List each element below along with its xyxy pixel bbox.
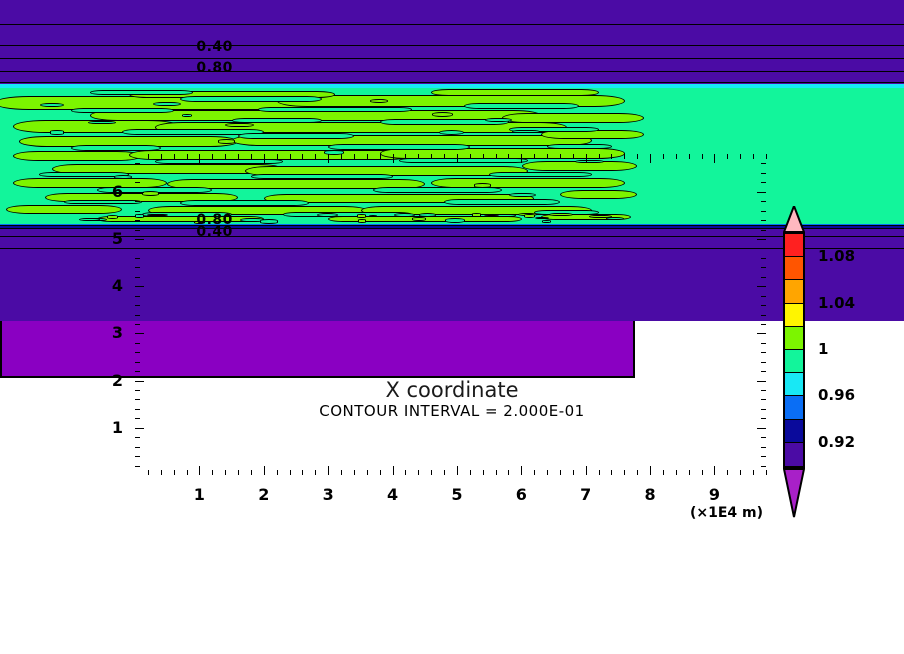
y-axis-tick <box>135 286 144 287</box>
x-axis-tick <box>508 470 509 475</box>
contour-line <box>0 225 635 226</box>
x-axis-tick <box>676 154 677 159</box>
x-axis-tick <box>418 154 419 159</box>
x-axis-tick <box>225 470 226 475</box>
y-axis-tick <box>757 286 766 287</box>
y-axis-tick <box>757 428 766 429</box>
x-axis-tick <box>483 470 484 475</box>
contour-region <box>182 114 192 117</box>
colorbar-segment <box>785 420 803 443</box>
x-axis-tick <box>714 154 715 163</box>
x-axis-tick <box>174 154 175 159</box>
y-axis-tick <box>135 305 140 306</box>
contour-region <box>357 214 367 218</box>
x-axis-tick <box>702 470 703 475</box>
x-axis-tick <box>264 466 265 475</box>
x-axis-tick-label: 2 <box>249 485 279 504</box>
x-axis-tick <box>586 154 587 163</box>
x-axis-tick <box>148 154 149 159</box>
x-axis-tick <box>611 470 612 475</box>
x-axis-tick <box>753 470 754 475</box>
x-axis-tick <box>315 154 316 159</box>
colorbar-top-cap <box>783 206 805 233</box>
contour-region <box>88 121 116 124</box>
x-axis-tick <box>328 466 329 475</box>
x-axis-tick <box>534 154 535 159</box>
contour-region <box>79 218 100 221</box>
y-axis-tick <box>135 390 140 391</box>
x-axis-tick <box>521 466 522 475</box>
x-axis-tick <box>302 470 303 475</box>
y-axis-tick <box>135 173 140 174</box>
contour-value-label: 0.40 <box>196 53 233 55</box>
contour-region <box>370 99 388 103</box>
y-axis-tick <box>761 324 766 325</box>
y-axis-tick-label: 1 <box>97 418 123 437</box>
x-axis-tick <box>367 154 368 159</box>
y-axis-tick <box>761 456 766 457</box>
contour-region <box>153 102 181 106</box>
x-axis-tick <box>277 154 278 159</box>
contour-region <box>509 193 536 197</box>
y-axis-tick <box>135 371 140 372</box>
x-axis-tick-label: 9 <box>699 485 729 504</box>
y-axis-tick <box>761 173 766 174</box>
contour-region <box>107 215 118 219</box>
x-axis-tick <box>560 470 561 475</box>
y-axis-tick <box>135 456 140 457</box>
x-axis-tick <box>702 154 703 159</box>
colorbar-tick-label: 0.96 <box>818 386 855 404</box>
x-axis-tick <box>547 470 548 475</box>
y-axis-tick <box>761 362 766 363</box>
x-axis-tick <box>444 154 445 159</box>
x-axis-tick <box>637 154 638 159</box>
colorbar-tick-label: 1.08 <box>818 247 855 265</box>
y-axis-tick <box>135 182 140 183</box>
x-axis-tick-label: 7 <box>571 485 601 504</box>
contour-region <box>13 151 142 161</box>
x-axis-tick <box>599 154 600 159</box>
contour-region <box>575 160 604 163</box>
y-axis-tick <box>761 409 766 410</box>
colorbar-bottom-cap <box>783 468 805 518</box>
contour-region <box>238 133 354 139</box>
contour-region <box>6 205 122 213</box>
y-axis-tick <box>135 248 140 249</box>
x-axis-tick <box>573 154 574 159</box>
colorbar-segment <box>785 327 803 350</box>
contour-line <box>0 236 635 237</box>
contour-region <box>432 112 453 117</box>
x-axis-tick <box>689 154 690 159</box>
x-axis-tick <box>251 470 252 475</box>
y-axis-tick <box>757 381 766 382</box>
contour-region <box>472 213 481 218</box>
x-axis-tick <box>393 154 394 163</box>
y-axis-tick <box>135 399 140 400</box>
x-axis-tick <box>212 154 213 159</box>
x-axis-tick <box>599 470 600 475</box>
x-axis-tick <box>753 154 754 159</box>
x-axis-tick <box>341 470 342 475</box>
y-axis-tick <box>135 239 144 240</box>
x-axis-tick <box>534 470 535 475</box>
contour-region <box>135 214 144 218</box>
x-axis-tick <box>431 154 432 159</box>
contour-region <box>489 172 592 178</box>
x-axis-tick <box>727 154 728 159</box>
contour-region <box>225 123 254 126</box>
field-band <box>0 84 635 89</box>
contour-region <box>40 103 64 107</box>
y-axis-tick <box>761 182 766 183</box>
x-axis-tick <box>663 470 664 475</box>
contour-region <box>142 191 159 196</box>
x-axis-tick-label: 1 <box>184 485 214 504</box>
x-axis-tick <box>315 470 316 475</box>
y-axis-tick <box>135 466 140 467</box>
x-axis-tick <box>393 466 394 475</box>
x-axis-tick <box>496 470 497 475</box>
y-axis-tick <box>761 315 766 316</box>
x-axis-tick <box>676 470 677 475</box>
y-axis-tick <box>761 296 766 297</box>
x-axis-tick <box>560 154 561 159</box>
y-axis-tick <box>761 248 766 249</box>
y-axis-tick <box>135 163 140 164</box>
y-axis-tick <box>135 277 140 278</box>
x-axis-tick <box>457 466 458 475</box>
y-axis-tick <box>761 418 766 419</box>
contour-region <box>542 220 552 224</box>
x-axis-tick <box>650 154 651 163</box>
y-axis-tick <box>135 201 140 202</box>
x-axis-tick <box>405 470 406 475</box>
x-axis-tick <box>161 470 162 475</box>
y-axis-tick <box>135 352 140 353</box>
contour-region <box>258 107 413 113</box>
colorbar-segment <box>785 396 803 419</box>
x-axis-tick <box>547 154 548 159</box>
x-axis-tick <box>444 470 445 475</box>
x-axis-tick <box>637 470 638 475</box>
contour-region <box>328 144 470 150</box>
contour-field: 0.400.800.800.40 <box>0 53 635 378</box>
colorbar-segment <box>785 350 803 373</box>
colorbar-tick-label: 1 <box>818 340 828 358</box>
y-axis-tick-label: 2 <box>97 371 123 390</box>
x-axis-tick <box>341 154 342 159</box>
contour-region <box>439 130 464 134</box>
x-axis-tick <box>483 154 484 159</box>
x-axis-tick <box>689 470 690 475</box>
x-axis-tick <box>238 154 239 159</box>
contour-region <box>71 108 174 114</box>
x-axis-tick <box>766 470 767 475</box>
y-axis-tick <box>135 258 140 259</box>
x-axis-tick <box>238 470 239 475</box>
y-axis-tick-label: 5 <box>97 229 123 248</box>
x-axis-tick <box>290 154 291 159</box>
x-axis-tick <box>650 466 651 475</box>
x-axis-tick <box>431 470 432 475</box>
x-axis-tick-label: 3 <box>313 485 343 504</box>
x-axis-tick <box>148 470 149 475</box>
y-axis-tick-label: 3 <box>97 323 123 342</box>
y-axis-tick <box>761 277 766 278</box>
y-axis-tick <box>761 305 766 306</box>
x-axis-tick <box>714 466 715 475</box>
x-axis-tick <box>624 470 625 475</box>
contour-region <box>444 199 560 205</box>
contour-region <box>502 113 635 123</box>
colorbar-segment <box>785 373 803 396</box>
contour-region <box>180 96 322 103</box>
x-axis-tick <box>663 154 664 159</box>
contour-line <box>0 82 635 83</box>
contour-region <box>90 90 193 95</box>
contour-region <box>358 219 366 223</box>
contour-line <box>0 228 635 229</box>
x-axis-tick <box>496 154 497 159</box>
x-axis-tick <box>187 470 188 475</box>
field-band <box>0 229 635 321</box>
x-axis-tick <box>187 154 188 159</box>
x-axis-tick <box>161 154 162 159</box>
y-axis-tick <box>135 211 140 212</box>
y-axis-tick <box>761 220 766 221</box>
x-axis-tick <box>354 154 355 159</box>
x-axis-tick <box>290 470 291 475</box>
contour-line <box>0 248 635 249</box>
y-axis-tick <box>761 399 766 400</box>
contour-region <box>524 214 535 217</box>
y-axis-tick <box>135 296 140 297</box>
x-axis-tick <box>174 470 175 475</box>
x-axis-tick <box>225 154 226 159</box>
contour-region <box>394 213 415 217</box>
contour-region <box>251 174 393 180</box>
x-axis-tick <box>199 466 200 475</box>
x-axis-tick <box>508 154 509 159</box>
y-axis-tick <box>761 258 766 259</box>
x-axis-tick <box>727 470 728 475</box>
x-axis-unit: (×1E4 m) <box>690 505 763 521</box>
y-axis-tick <box>135 192 144 193</box>
x-axis-tick <box>354 470 355 475</box>
x-axis-tick <box>521 154 522 163</box>
contour-region <box>260 219 278 224</box>
contour-region <box>464 103 580 109</box>
x-axis-tick <box>573 470 574 475</box>
x-axis-tick <box>199 154 200 163</box>
contour-region <box>445 218 465 223</box>
contour-region <box>147 214 167 217</box>
x-axis-tick <box>251 154 252 159</box>
y-axis-tick <box>135 267 140 268</box>
contour-region <box>512 130 540 133</box>
x-axis-tick <box>380 470 381 475</box>
y-axis-tick <box>135 362 140 363</box>
contour-region <box>412 217 426 221</box>
x-axis-tick <box>418 470 419 475</box>
y-axis-tick-label: 6 <box>97 182 123 201</box>
x-axis-tick-label: 4 <box>378 485 408 504</box>
contour-region <box>114 175 132 179</box>
y-axis-tick <box>135 220 140 221</box>
y-axis-tick <box>761 201 766 202</box>
contour-region <box>474 183 491 188</box>
contour-region <box>431 89 598 96</box>
y-axis-tick <box>761 352 766 353</box>
x-axis-tick <box>264 154 265 163</box>
colorbar-segment <box>785 280 803 303</box>
y-axis-tick <box>761 447 766 448</box>
y-axis-tick <box>761 371 766 372</box>
y-axis-tick <box>135 333 144 334</box>
y-axis-tick <box>135 381 144 382</box>
y-axis-tick <box>761 466 766 467</box>
contour-plot: 0.400.800.800.40 <box>0 53 635 378</box>
colorbar-segment <box>785 257 803 280</box>
x-axis-tick <box>277 470 278 475</box>
y-axis-tick <box>761 211 766 212</box>
y-axis-tick <box>761 390 766 391</box>
colorbar <box>783 232 805 468</box>
colorbar-segment <box>785 443 803 466</box>
y-axis-tick <box>761 437 766 438</box>
y-axis-tick <box>135 437 140 438</box>
x-axis-tick <box>212 470 213 475</box>
x-axis-tick <box>302 154 303 159</box>
y-axis-tick <box>135 315 140 316</box>
contour-value-label: 0.80 <box>196 60 233 76</box>
y-axis-tick <box>135 230 140 231</box>
contour-region <box>283 212 412 217</box>
x-axis-tick <box>405 154 406 159</box>
y-axis-tick <box>757 239 766 240</box>
x-axis-tick <box>740 154 741 159</box>
x-axis-tick <box>328 154 329 163</box>
y-axis-tick <box>761 343 766 344</box>
y-axis-tick <box>761 267 766 268</box>
y-axis-tick <box>761 163 766 164</box>
x-axis-tick <box>624 154 625 159</box>
contour-region <box>560 190 635 198</box>
colorbar-segment <box>785 304 803 327</box>
contour-line <box>0 58 635 59</box>
x-axis-tick-label: 6 <box>506 485 536 504</box>
contour-region <box>71 145 161 151</box>
y-axis-tick <box>757 333 766 334</box>
contour-region <box>97 216 264 223</box>
x-axis-tick-label: 5 <box>442 485 472 504</box>
x-axis-tick <box>740 470 741 475</box>
x-axis-tick <box>457 154 458 163</box>
colorbar-segment <box>785 234 803 257</box>
x-axis-tick <box>611 154 612 159</box>
x-axis-tick <box>470 470 471 475</box>
y-axis-tick <box>757 192 766 193</box>
contour-value-label: 0.40 <box>196 224 233 240</box>
y-axis-tick <box>135 418 140 419</box>
y-axis-tick <box>135 447 140 448</box>
x-axis-tick <box>470 154 471 159</box>
y-axis-tick <box>761 230 766 231</box>
y-axis-tick <box>135 409 140 410</box>
contour-line <box>0 71 635 72</box>
y-axis-tick <box>135 428 144 429</box>
x-axis-tick <box>586 466 587 475</box>
y-axis-tick <box>135 343 140 344</box>
y-axis-tick-label: 4 <box>97 276 123 295</box>
contour-region <box>180 200 309 206</box>
contour-region <box>218 139 235 143</box>
colorbar-tick-label: 0.92 <box>818 433 855 451</box>
contour-region <box>547 144 611 149</box>
x-axis-tick-label: 8 <box>635 485 665 504</box>
colorbar-tick-label: 1.04 <box>818 294 855 312</box>
x-axis-tick <box>766 154 767 159</box>
x-axis-tick <box>367 470 368 475</box>
y-axis-tick <box>135 324 140 325</box>
x-axis-tick <box>380 154 381 159</box>
